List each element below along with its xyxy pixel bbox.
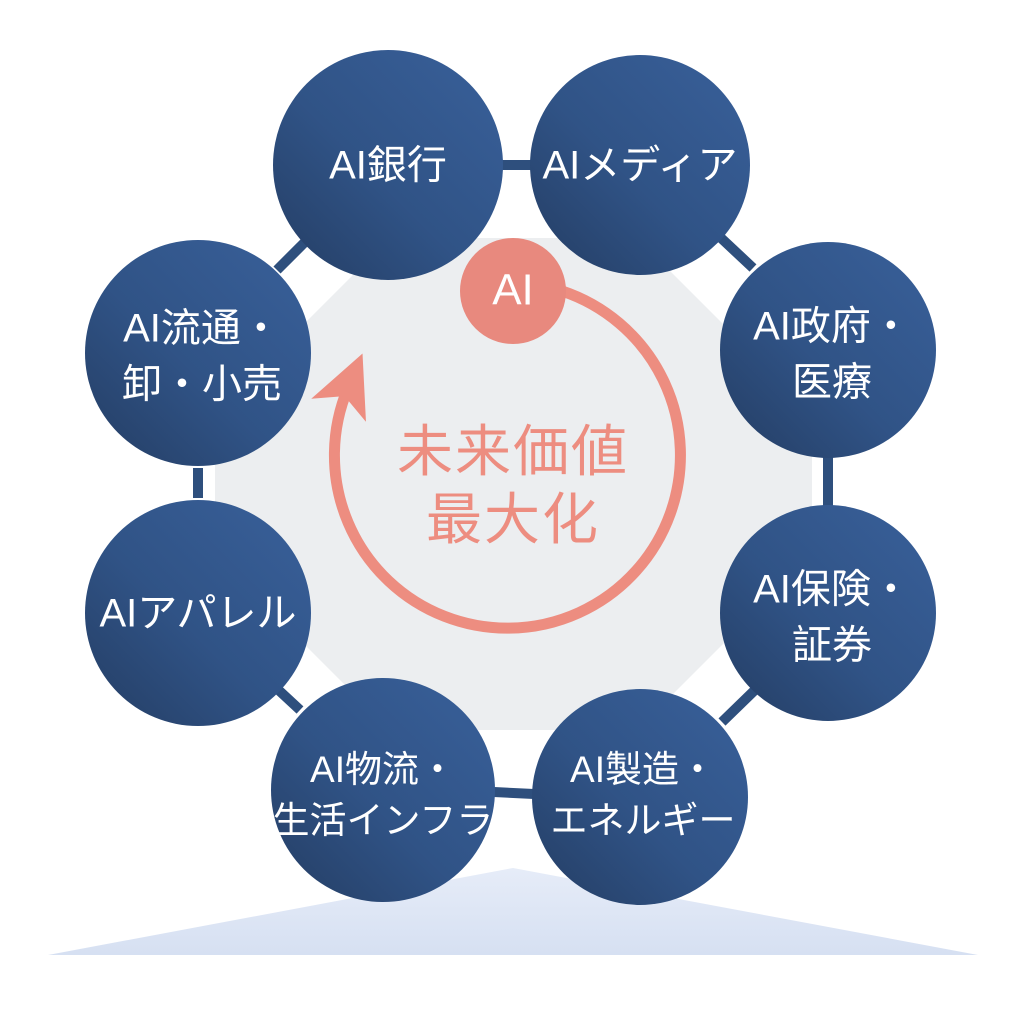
node-circle-ai-manufacture[interactable]: [532, 689, 748, 905]
node-label-ai-media: AIメディア: [543, 144, 738, 188]
ground-shape: [48, 868, 978, 955]
center-text-line1: 未来価値: [397, 420, 629, 483]
node-label-ai-retail-line1: AI流通・: [123, 307, 281, 351]
node-label-ai-manufacture-line2: エネルギー: [551, 800, 736, 841]
connector-retail-bank: [277, 242, 305, 270]
node-circle-ai-logistics[interactable]: [271, 678, 495, 902]
node-circle-ai-insurance[interactable]: [720, 505, 936, 721]
node-label-ai-government-line1: AI政府・: [753, 305, 911, 349]
connector-manufacture-logistics: [494, 792, 534, 794]
node-label-ai-apparel: AIアパレル: [100, 592, 297, 636]
node-label-ai-insurance-line1: AI保険・: [753, 568, 911, 612]
diagram-canvas: AI銀行 AIメディア AI政府・ 医療 AI保険・ 証券 AI製造・ エネルギ…: [0, 0, 1026, 1012]
node-label-ai-logistics-line2: 生活インフラ: [273, 800, 494, 841]
node-circle-ai-government[interactable]: [720, 242, 936, 458]
node-label-ai-government-line2: 医療: [792, 361, 872, 405]
node-circle-ai-retail[interactable]: [85, 240, 311, 466]
hub-label: AI: [492, 266, 534, 315]
connector-insurance-manufacture: [722, 688, 757, 722]
node-label-ai-logistics-line1: AI物流・: [310, 749, 456, 790]
node-label-ai-bank: AI銀行: [329, 144, 447, 188]
connector-media-government: [721, 238, 753, 268]
ai-hub[interactable]: AI: [460, 238, 566, 344]
node-label-ai-insurance-line2: 証券: [792, 624, 872, 668]
center-text-line2: 最大化: [426, 488, 600, 551]
ai-ecosystem-diagram: AI銀行 AIメディア AI政府・ 医療 AI保険・ 証券 AI製造・ エネルギ…: [0, 0, 1026, 1012]
node-label-ai-manufacture-line1: AI製造・: [570, 749, 716, 790]
node-label-ai-retail-line2: 卸・小売: [122, 363, 282, 407]
